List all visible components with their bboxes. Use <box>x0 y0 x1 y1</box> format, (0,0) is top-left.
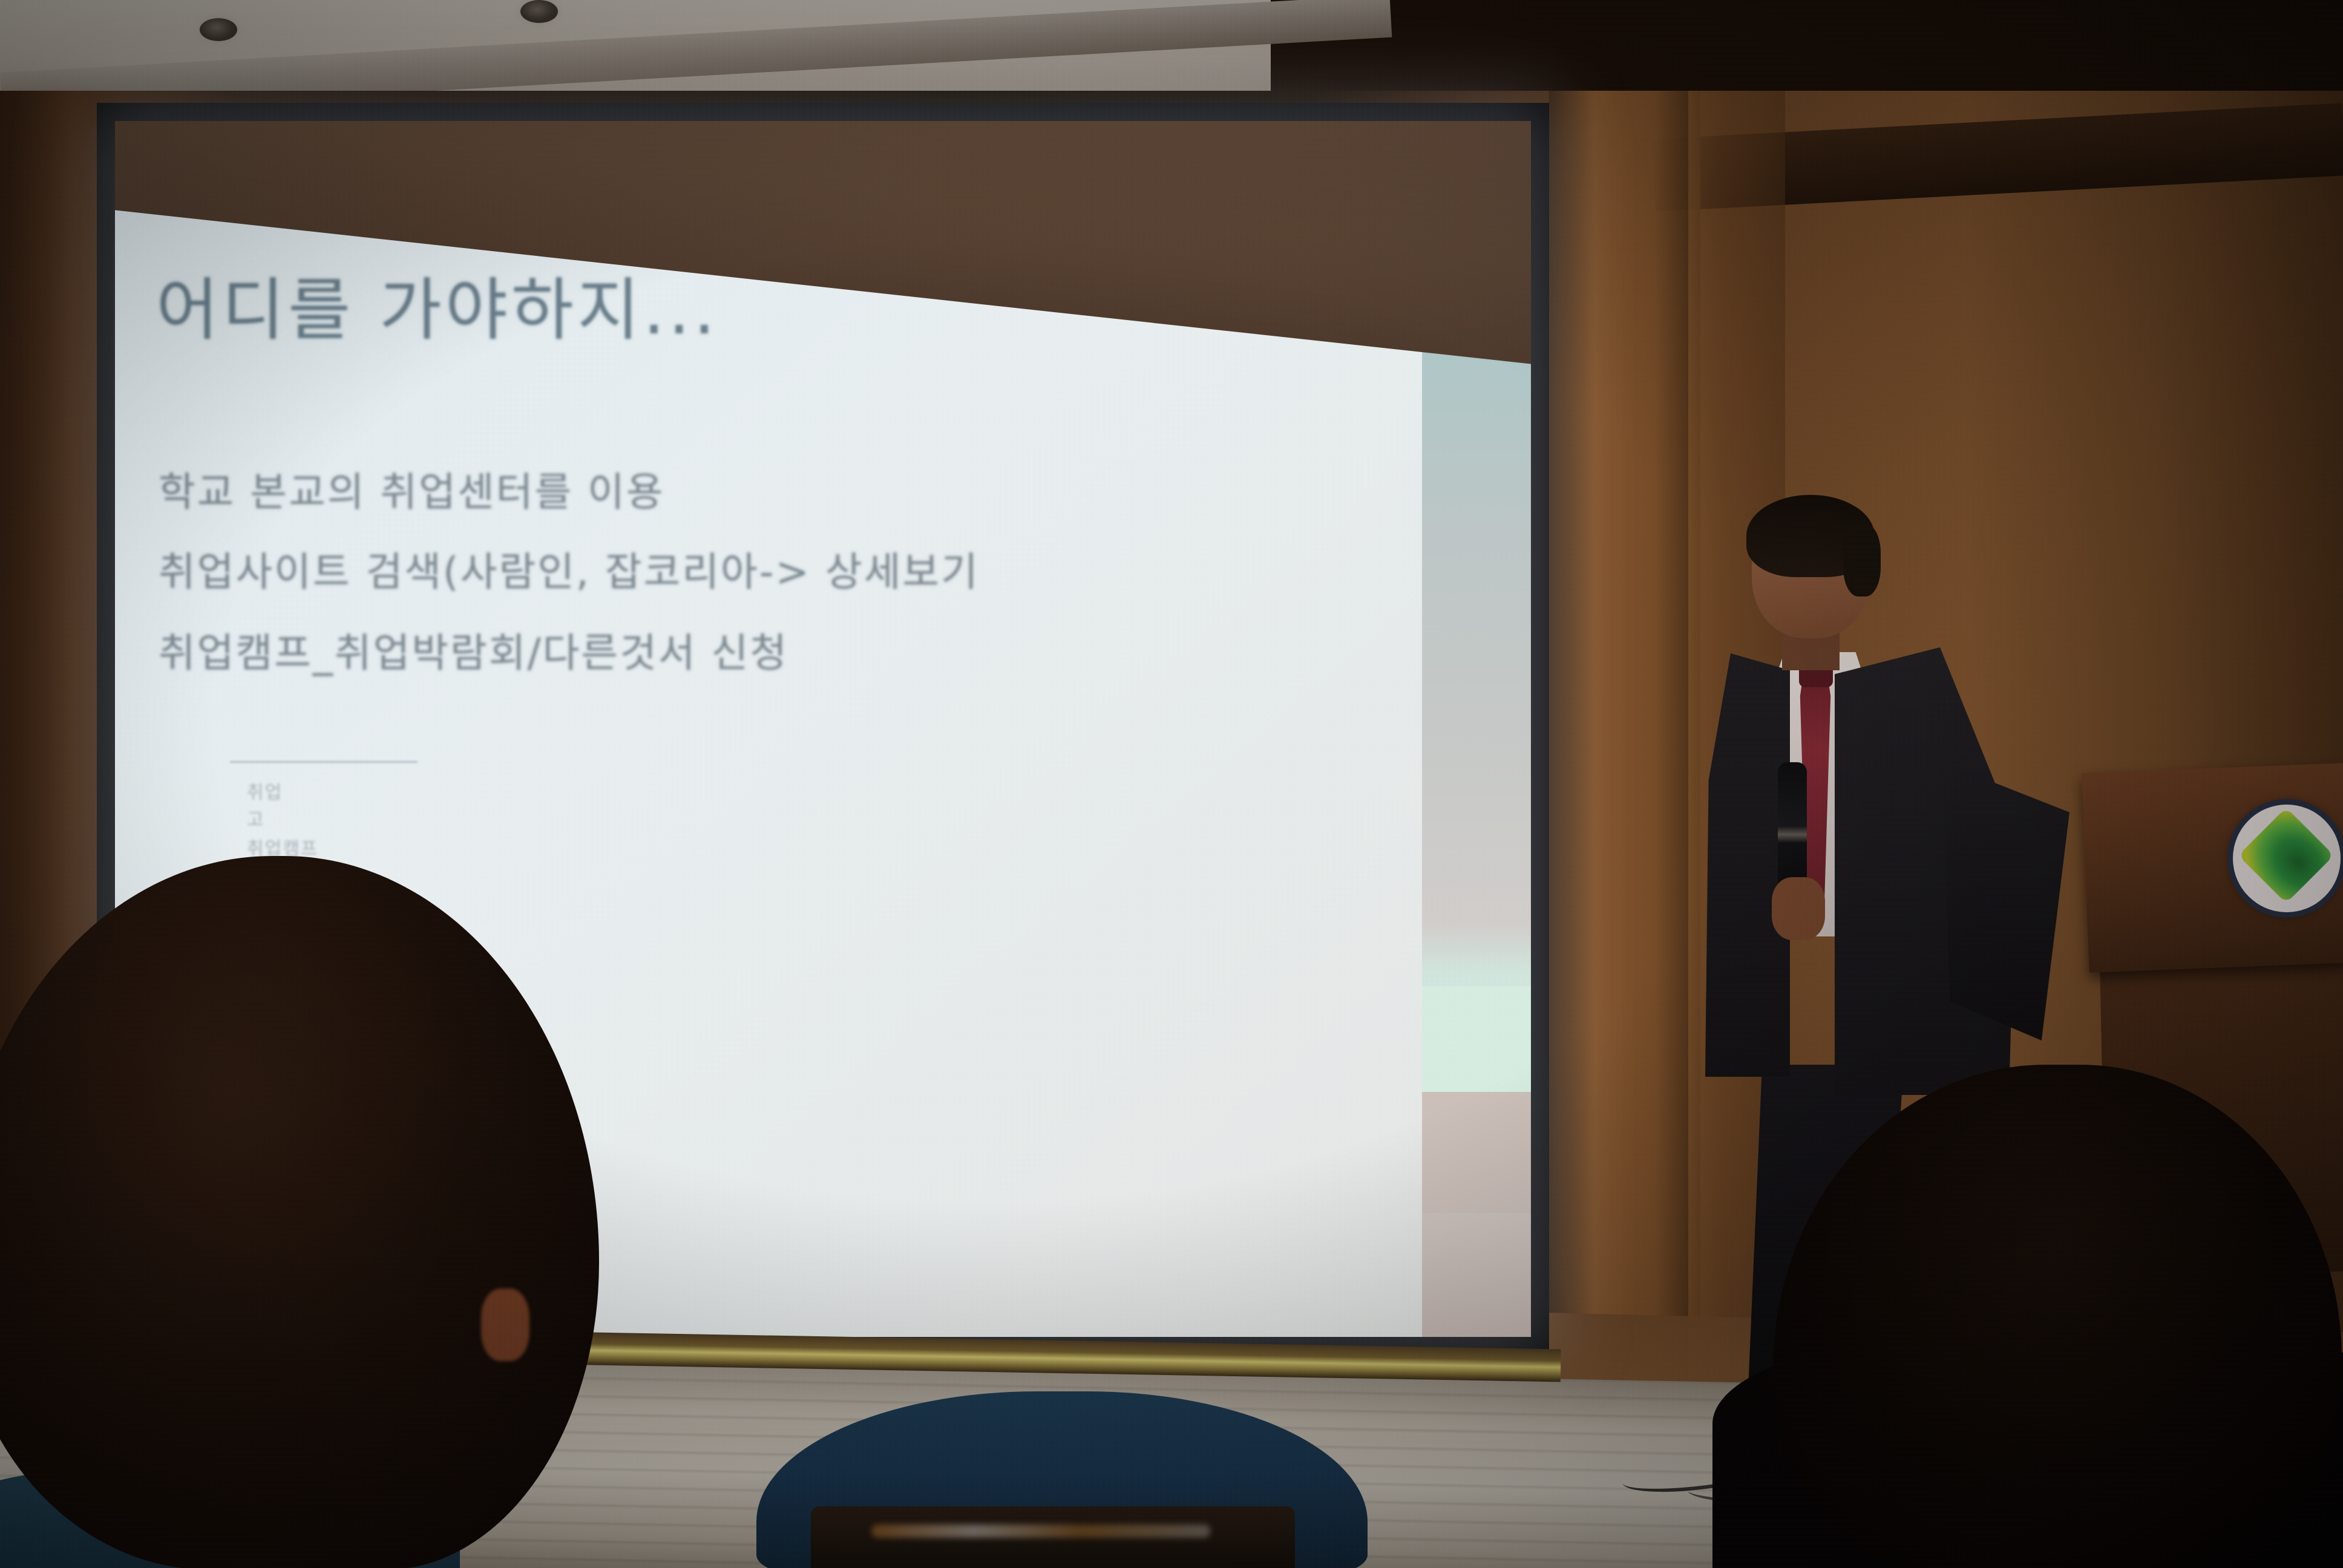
wall-pilaster <box>1549 91 1700 1397</box>
slide-title: 어디를 가야하지... <box>156 255 719 353</box>
presenter-hair-side <box>1843 524 1881 596</box>
slide-divider <box>230 761 418 763</box>
presentation-photo-scene: 어디를 가야하지... 학교 본교의 취업센터를 이용 취업사이트 검색(사람인… <box>0 0 2343 1568</box>
audience-member-ear <box>481 1289 529 1361</box>
slide-subitem: 취업 <box>247 777 283 804</box>
emblem-diamond-icon <box>2238 808 2334 903</box>
slide-bullet-line: 취업사이트 검색(사람인, 잡코리아-> 상세보기 <box>159 540 980 598</box>
ceiling-downlight-icon <box>520 0 558 23</box>
presenter-right-arm <box>1942 762 2069 1040</box>
slide-bullet-line: 학교 본교의 취업센터를 이용 <box>159 460 665 518</box>
slide-subitem: 고 <box>247 805 265 831</box>
podium-emblem-icon <box>2233 805 2341 912</box>
presenter-jacket-left <box>1705 653 1790 1077</box>
slide-bullet-line: 취업캠프_취업박람회/다른것서 신청 <box>159 621 788 679</box>
presenter-hand <box>1772 877 1825 940</box>
auditorium-chair-highlight <box>871 1524 1210 1538</box>
ceiling-downlight-icon <box>200 18 237 41</box>
